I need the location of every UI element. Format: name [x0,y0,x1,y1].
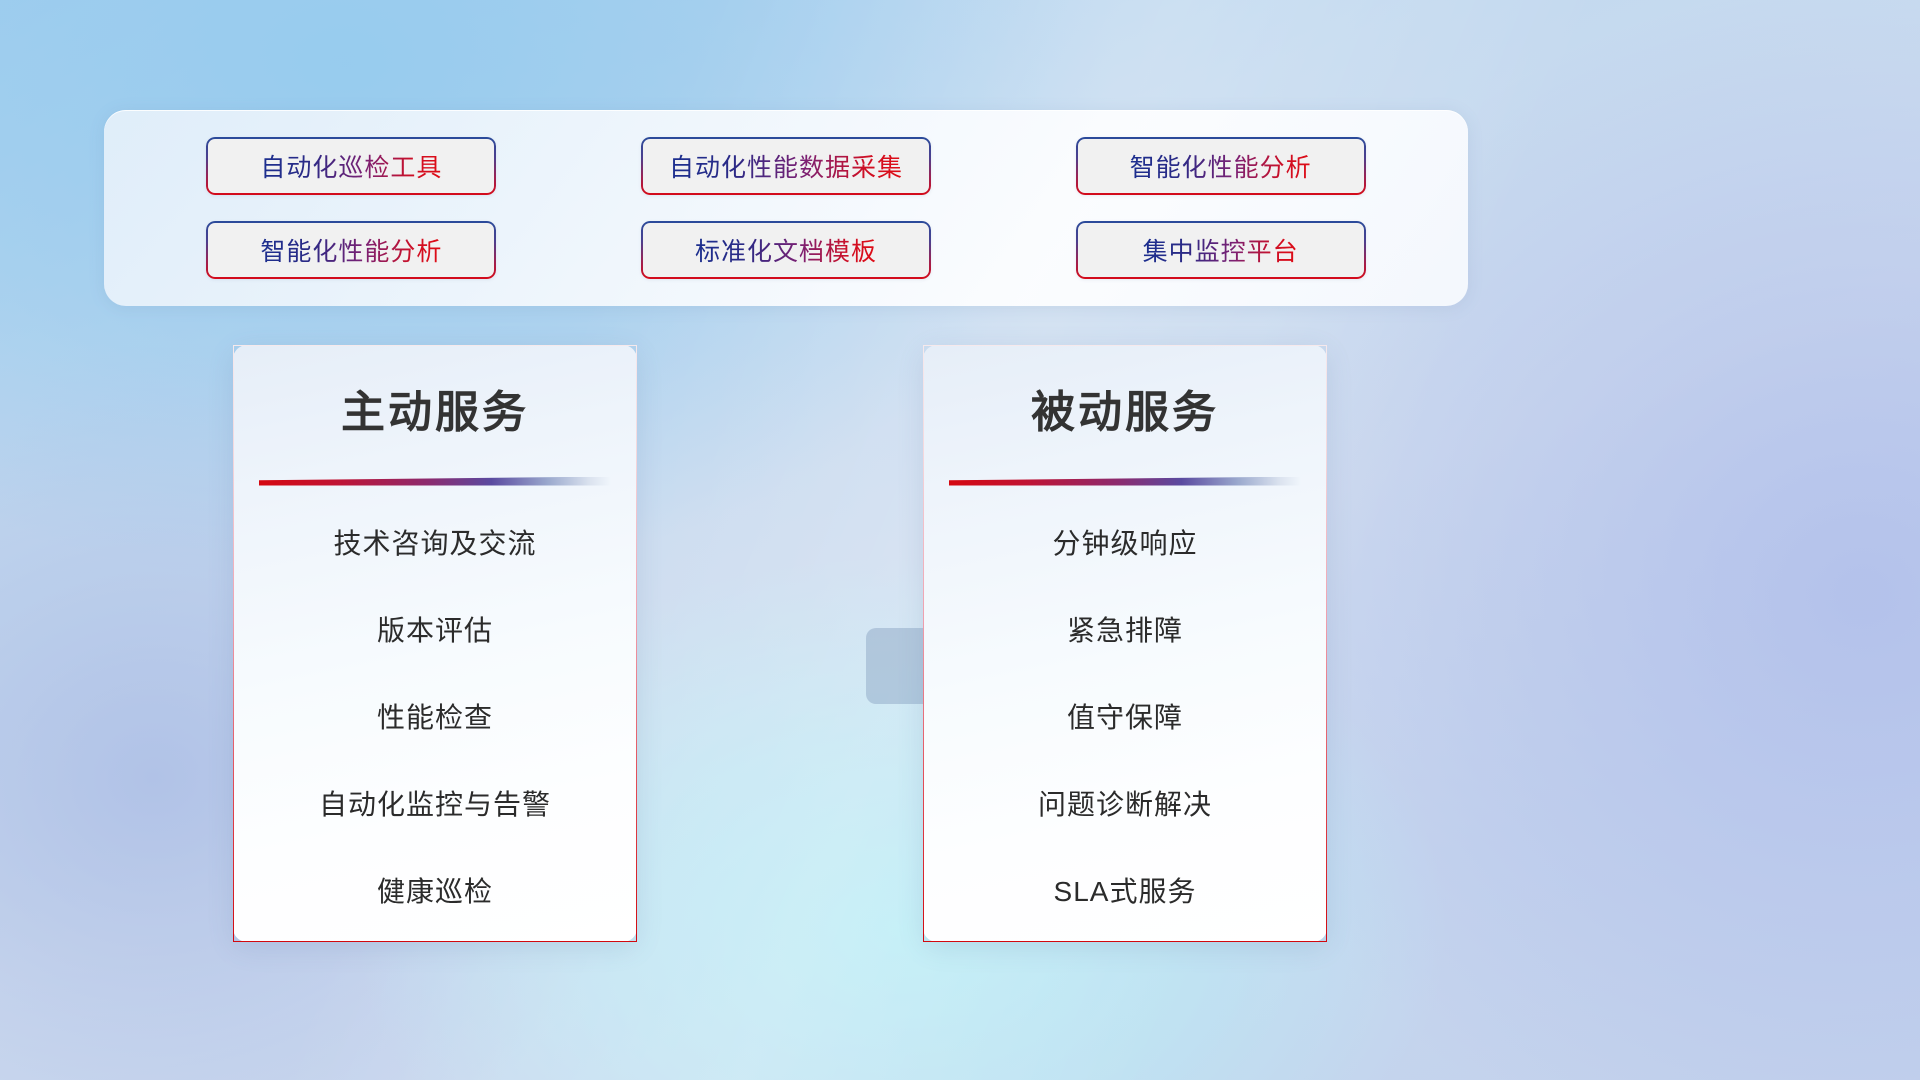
service-card-passive: 被动服务 分钟级响应 紧急排障 值守保障 问题诊断解决 SLA式服务 [923,345,1327,942]
capability-pill[interactable]: 自动化性能数据采集 [641,137,931,195]
service-item: 自动化监控与告警 [234,791,636,819]
service-item-list: 分钟级响应 紧急排障 值守保障 问题诊断解决 SLA式服务 [924,486,1326,906]
capability-panel: 自动化巡检工具 自动化性能数据采集 智能化性能分析 智能化性能分析 标准化文档模… [104,110,1468,306]
service-item: 健康巡检 [234,878,636,906]
service-item: 版本评估 [234,617,636,645]
capability-pill[interactable]: 自动化巡检工具 [206,137,496,195]
service-item-list: 技术咨询及交流 版本评估 性能检查 自动化监控与告警 健康巡检 [234,486,636,906]
service-item: 问题诊断解决 [924,791,1326,819]
card-title: 主动服务 [234,376,636,440]
card-title: 被动服务 [924,376,1326,440]
service-item: 技术咨询及交流 [234,530,636,558]
capability-pill-label: 自动化性能数据采集 [669,148,903,184]
capability-pill-label: 智能化性能分析 [1130,148,1312,184]
capability-pill[interactable]: 标准化文档模板 [641,221,931,279]
card-title-divider [949,477,1301,486]
capability-pill-label: 自动化巡检工具 [260,148,442,184]
service-card-active: 主动服务 技术咨询及交流 版本评估 性能检查 自动化监控与告警 健康巡检 [233,345,637,942]
service-item: 值守保障 [924,704,1326,732]
capability-pill-label: 标准化文档模板 [695,232,877,268]
capability-pill-label: 智能化性能分析 [260,232,442,268]
card-title-divider [259,477,611,486]
service-item: 分钟级响应 [924,530,1326,558]
capability-pill-label: 集中监控平台 [1143,232,1299,268]
service-item: SLA式服务 [924,878,1326,906]
service-item: 性能检查 [234,704,636,732]
service-item: 紧急排障 [924,617,1326,645]
capability-pill[interactable]: 智能化性能分析 [1076,137,1366,195]
capability-pill[interactable]: 智能化性能分析 [206,221,496,279]
capability-pill[interactable]: 集中监控平台 [1076,221,1366,279]
